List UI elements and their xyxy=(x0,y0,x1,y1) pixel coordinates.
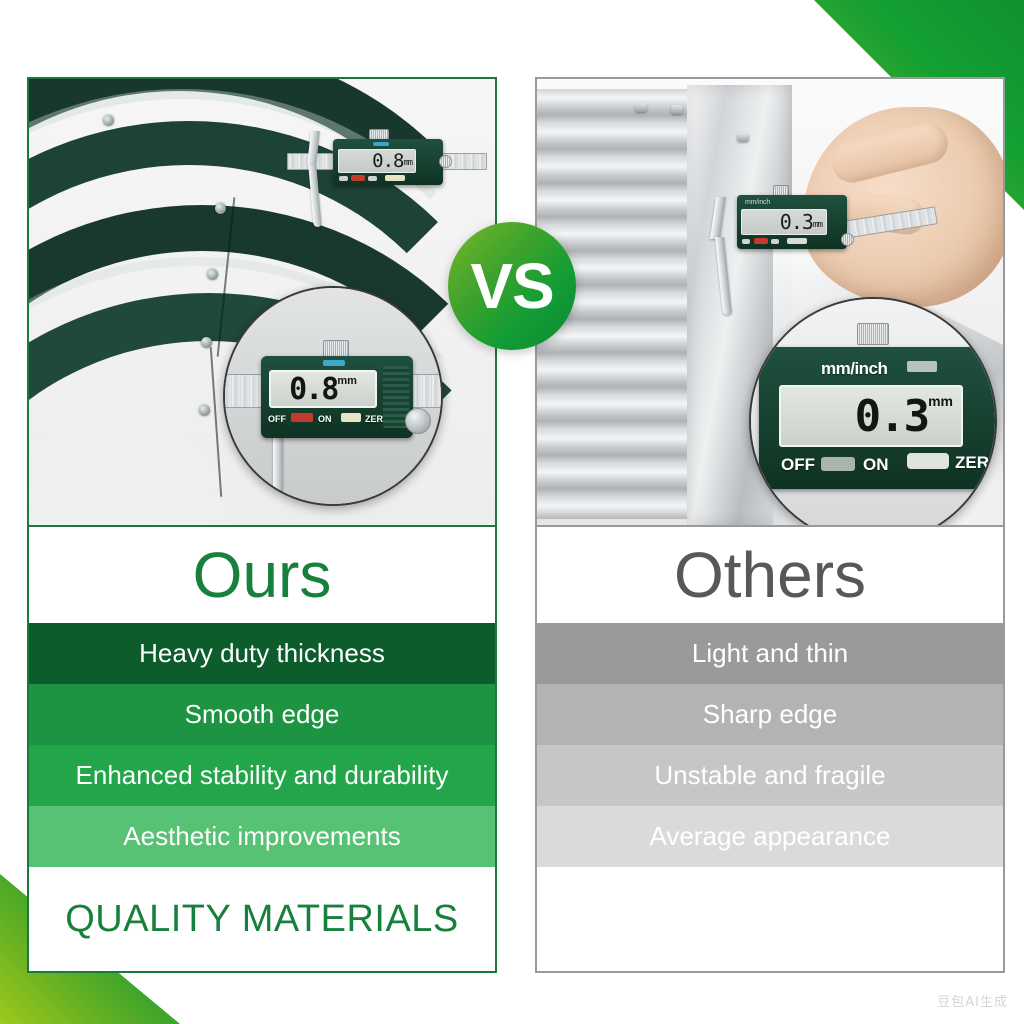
bubble-caliper-unit: mm xyxy=(337,375,357,387)
bubble-mode-label: mm/inch xyxy=(821,359,887,379)
others-row-4: Average appearance xyxy=(537,806,1003,867)
ours-row-2-label: Smooth edge xyxy=(185,699,340,730)
caliper-reading: 0.3 xyxy=(780,210,813,234)
bubble-caliper-reading: 0.3 xyxy=(855,391,928,442)
ours-row-1: Heavy duty thickness xyxy=(29,623,495,684)
others-row-3: Unstable and fragile xyxy=(537,745,1003,806)
ours-footer: QUALITY MATERIALS xyxy=(29,867,495,971)
bubble-on-label: ON xyxy=(318,414,332,424)
others-product-photo: mm/inch 0.3mm mm/inch xyxy=(537,79,1003,527)
others-feature-rows: Light and thin Sharp edge Unstable and f… xyxy=(537,623,1003,867)
others-zoom-bubble: mm/inch 0.3mm OFF ON ZERO xyxy=(749,297,997,527)
caliper-jaw-lower xyxy=(715,237,732,315)
ours-row-1-label: Heavy duty thickness xyxy=(139,638,385,669)
screw xyxy=(635,103,647,112)
others-title: Others xyxy=(537,527,1003,623)
caliper-unit: mm xyxy=(403,158,412,168)
caliper-zero-button xyxy=(385,175,405,181)
caliper-lcd-display: 0.3mm xyxy=(741,209,827,235)
caliper-jaw-upper xyxy=(710,197,726,239)
bubble-lcd-display: 0.8mm xyxy=(269,370,377,408)
others-row-2-label: Sharp edge xyxy=(703,699,837,730)
others-row-3-label: Unstable and fragile xyxy=(654,760,885,791)
caliper-off-button xyxy=(742,239,750,244)
caliper-power-button xyxy=(754,238,768,244)
others-row-4-label: Average appearance xyxy=(650,821,891,852)
ours-row-4-label: Aesthetic improvements xyxy=(123,821,400,852)
caliper-reading: 0.8 xyxy=(372,150,403,172)
caliper-lock-screw xyxy=(841,233,854,246)
ours-feature-rows: Heavy duty thickness Smooth edge Enhance… xyxy=(29,623,495,867)
others-row-1: Light and thin xyxy=(537,623,1003,684)
bubble-caliper-lock-screw xyxy=(405,408,431,434)
caliper-unit: mm xyxy=(813,219,822,230)
caliper-power-button xyxy=(351,175,365,181)
caliper-lock-screw xyxy=(439,155,452,168)
caliper-jaw-lower xyxy=(308,165,321,227)
caliper-mode-label: mm/inch xyxy=(745,199,770,206)
others-panel: mm/inch 0.3mm mm/inch xyxy=(535,77,1005,973)
ours-zoom-bubble: 0.8mm OFF ON ZERO xyxy=(223,286,443,506)
bubble-off-label: OFF xyxy=(268,414,286,424)
ours-panel: 0.8mm 0.8mm xyxy=(27,77,497,973)
bubble-caliper-unit: mm xyxy=(928,393,953,409)
caliper-body: mm/inch 0.3mm xyxy=(737,195,847,249)
caliper-indicator-light xyxy=(373,142,389,146)
bolt xyxy=(215,203,226,214)
vs-badge-label: VS xyxy=(470,254,553,318)
screw xyxy=(737,133,749,142)
bubble-indicator-light xyxy=(323,360,345,366)
caliper-body: 0.8mm xyxy=(333,139,443,185)
bolt xyxy=(201,337,212,348)
bubble-mode-button xyxy=(907,361,937,372)
ours-title: Ours xyxy=(29,527,495,623)
bubble-zero-button xyxy=(907,453,949,469)
bubble-lcd-display: 0.3mm xyxy=(779,385,963,447)
others-row-1-label: Light and thin xyxy=(692,638,848,669)
bubble-caliper-body: mm/inch 0.3mm OFF ON ZERO xyxy=(759,347,997,489)
caliper-off-button xyxy=(339,176,348,181)
bubble-zero-label: ZERO xyxy=(955,453,997,473)
bolt xyxy=(199,405,210,416)
ours-footer-text: QUALITY MATERIALS xyxy=(65,898,459,941)
bubble-power-button xyxy=(291,413,313,422)
bubble-caliper-body: 0.8mm OFF ON ZERO xyxy=(261,356,413,438)
ours-row-2: Smooth edge xyxy=(29,684,495,745)
ours-row-4: Aesthetic improvements xyxy=(29,806,495,867)
bolt xyxy=(103,115,114,126)
bubble-zero-button xyxy=(341,413,361,422)
screw xyxy=(671,105,683,114)
others-footer xyxy=(537,867,1003,971)
others-title-text: Others xyxy=(674,543,866,607)
ours-row-3: Enhanced stability and durability xyxy=(29,745,495,806)
ours-title-text: Ours xyxy=(193,543,332,607)
vs-badge: VS xyxy=(448,222,576,350)
bolt xyxy=(207,269,218,280)
caliper-lcd-display: 0.8mm xyxy=(338,149,416,173)
bubble-off-label: OFF xyxy=(781,455,815,475)
digital-caliper-left: 0.8mm xyxy=(287,115,487,235)
others-row-2: Sharp edge xyxy=(537,684,1003,745)
bubble-caliper-thumb-wheel xyxy=(857,323,889,345)
ours-product-photo: 0.8mm 0.8mm xyxy=(29,79,495,527)
comparison-infographic: 0.8mm 0.8mm xyxy=(0,0,1024,1024)
bubble-power-button xyxy=(821,457,855,471)
bubble-caliper-reading: 0.8 xyxy=(289,372,337,407)
watermark: 豆包AI生成 xyxy=(937,991,1008,1010)
bubble-on-label: ON xyxy=(863,455,889,475)
caliper-on-button xyxy=(368,176,377,181)
caliper-on-button xyxy=(771,239,779,244)
ours-row-3-label: Enhanced stability and durability xyxy=(76,760,449,791)
caliper-zero-button xyxy=(787,238,807,244)
